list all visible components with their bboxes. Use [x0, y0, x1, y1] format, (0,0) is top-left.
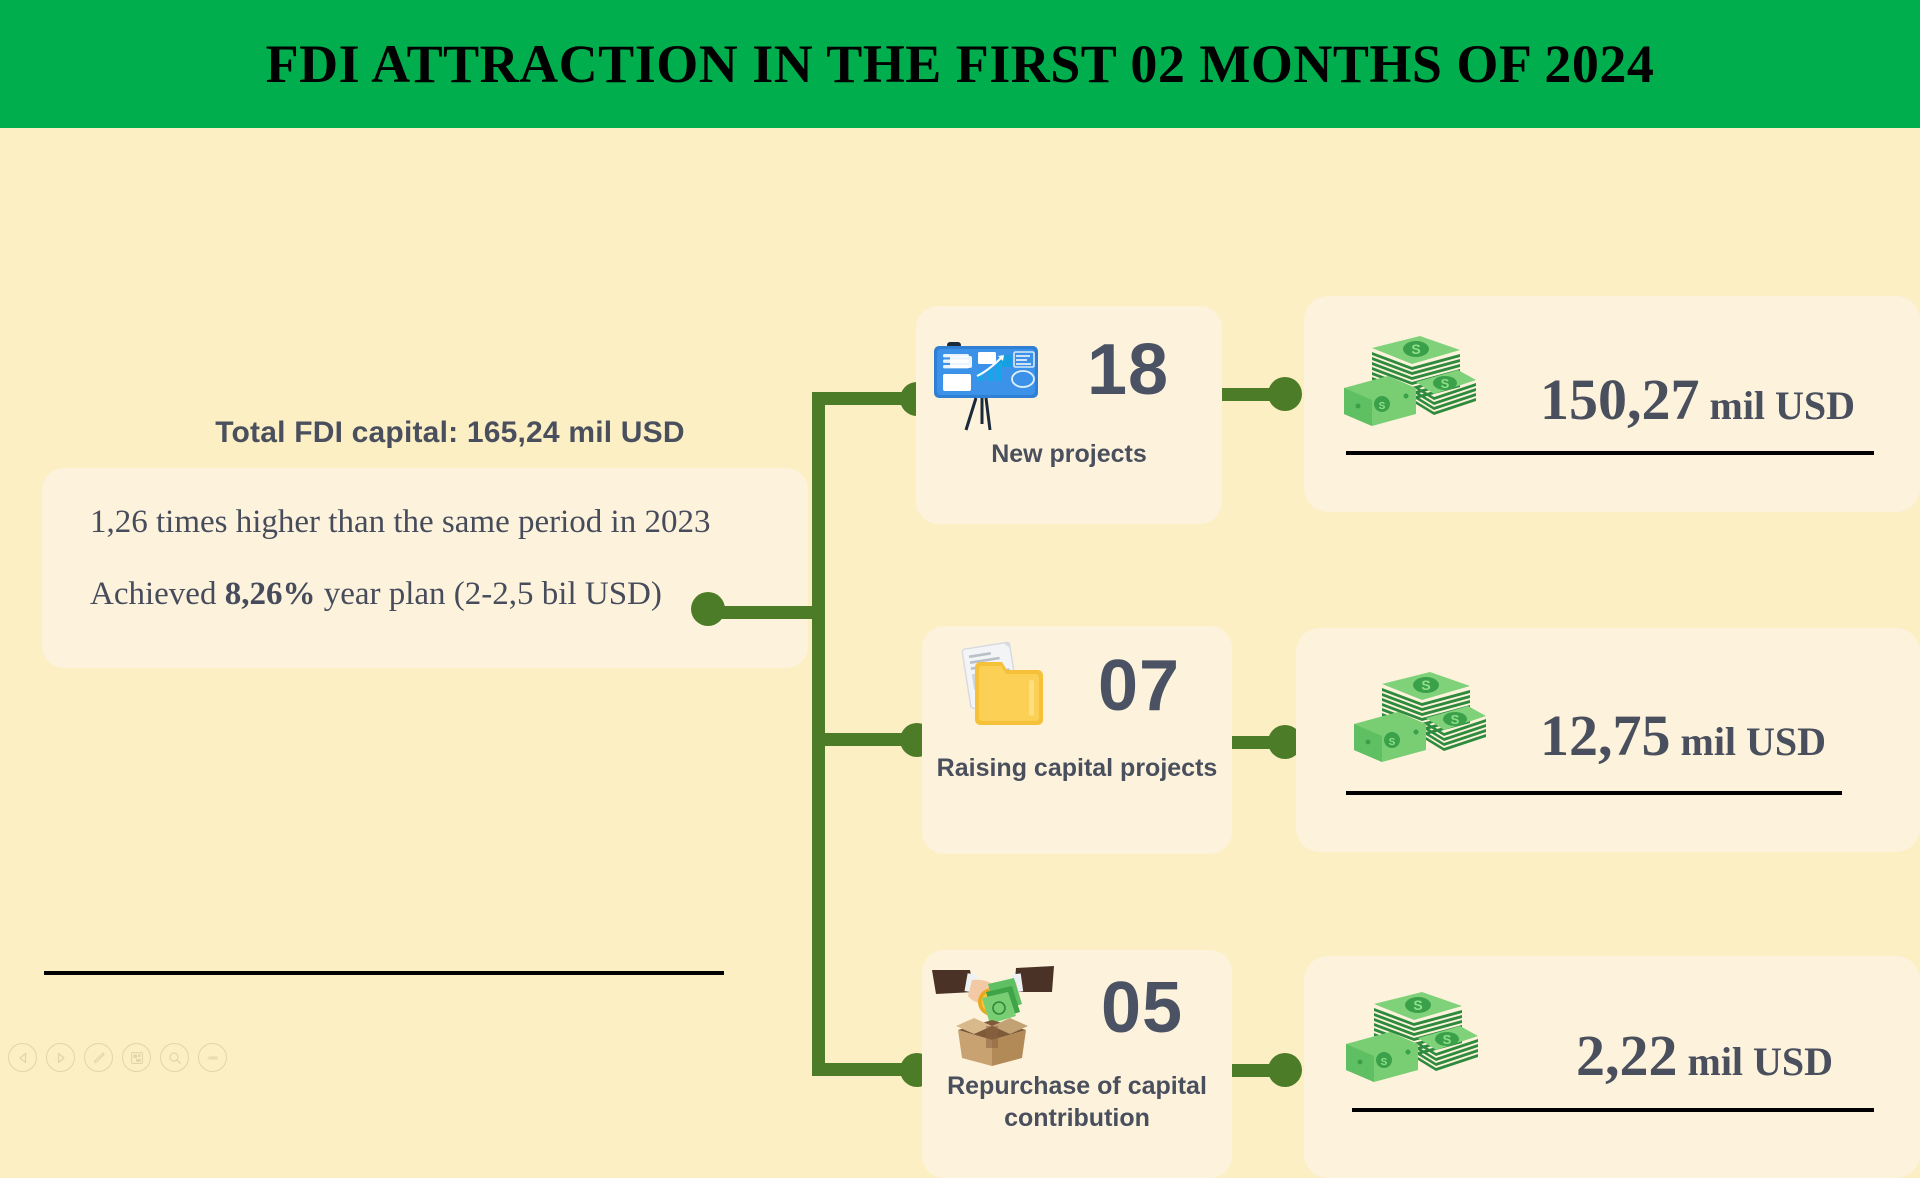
next-slide-button[interactable] — [46, 1043, 75, 1072]
amount-rule-3 — [1352, 1108, 1874, 1112]
amount-text-1: 150,27mil USD — [1540, 366, 1855, 433]
page-title: FDI ATTRACTION IN THE FIRST 02 MONTHS OF… — [266, 33, 1655, 95]
svg-text:S: S — [1421, 677, 1430, 693]
money-stack-icon: S S — [1342, 326, 1476, 441]
header-banner: FDI ATTRACTION IN THE FIRST 02 MONTHS OF… — [0, 0, 1920, 128]
summary-plan-percent: 8,26% — [225, 576, 316, 612]
summary-line-plan: Achieved 8,26% year plan (2-2,5 bil USD) — [90, 576, 662, 613]
amount-value-3: 2,22 — [1576, 1023, 1678, 1088]
folder-documents-icon — [950, 636, 1054, 745]
amount-text-2: 12,75mil USD — [1540, 702, 1826, 769]
slide-grid-button[interactable] — [122, 1043, 151, 1072]
amount-card-repurchase: S S — [1304, 956, 1920, 1178]
svg-text:S: S — [1381, 1057, 1388, 1068]
amount-rule-2 — [1346, 791, 1842, 795]
bottom-divider-rule — [44, 971, 724, 975]
ellipsis-icon — [206, 1051, 220, 1065]
metric-card-raising-capital: 07 Raising capital projects — [922, 626, 1232, 854]
pen-tool-button[interactable] — [84, 1043, 113, 1072]
metric-card-repurchase: $ — [922, 950, 1232, 1178]
presentation-board-icon — [930, 324, 1042, 441]
svg-text:S: S — [1413, 997, 1422, 1013]
magnifier-icon — [168, 1051, 182, 1065]
metric-label-2: Raising capital projects — [930, 752, 1224, 784]
money-stack-icon: S S — [1352, 662, 1486, 777]
metric-label-1: New projects — [924, 438, 1214, 470]
svg-text:S: S — [1379, 401, 1386, 412]
amount-unit-1: mil USD — [1710, 383, 1856, 428]
triangle-right-icon — [55, 1052, 67, 1064]
svg-text:S: S — [1389, 737, 1396, 748]
slide-canvas: Total FDI capital: 165,24 mil USD 1,26 t… — [0, 128, 1920, 1080]
amount-value-2: 12,75 — [1540, 703, 1671, 768]
amount-unit-2: mil USD — [1681, 719, 1827, 764]
svg-text:S: S — [1411, 341, 1420, 357]
amount-unit-3: mil USD — [1688, 1039, 1834, 1084]
zoom-button[interactable] — [160, 1043, 189, 1072]
amount-value-1: 150,27 — [1540, 367, 1700, 432]
more-options-button[interactable] — [198, 1043, 227, 1072]
previous-slide-button[interactable] — [8, 1043, 37, 1072]
total-capital-heading: Total FDI capital: 165,24 mil USD — [110, 416, 790, 450]
summary-plan-prefix: Achieved — [90, 576, 225, 612]
summary-plan-suffix: year plan (2-2,5 bil USD) — [315, 576, 661, 612]
connector-node-hub — [691, 592, 725, 626]
amount-text-3: 2,22mil USD — [1576, 1022, 1833, 1089]
hands-cash-box-icon: $ — [930, 954, 1056, 1077]
svg-text:S: S — [1441, 376, 1450, 391]
metric-count-1: 18 — [1087, 334, 1169, 406]
presentation-toolbar[interactable] — [8, 1043, 227, 1072]
svg-text:S: S — [1451, 712, 1460, 727]
pen-icon — [92, 1051, 106, 1065]
metric-count-2: 07 — [1098, 650, 1180, 722]
connector-node-amount-1 — [1268, 377, 1302, 411]
metric-card-new-projects: 18 New projects — [916, 306, 1222, 524]
amount-rule-1 — [1346, 451, 1874, 455]
connector-node-amount-3 — [1268, 1053, 1302, 1087]
summary-card: 1,26 times higher than the same period i… — [42, 468, 808, 668]
svg-text:S: S — [1443, 1032, 1452, 1047]
metric-count-3: 05 — [1101, 972, 1183, 1044]
grid-icon — [130, 1051, 144, 1065]
triangle-left-icon — [17, 1052, 29, 1064]
amount-card-new-projects: S S — [1304, 296, 1920, 512]
summary-line-comparison: 1,26 times higher than the same period i… — [90, 504, 710, 541]
amount-card-raising-capital: S S — [1296, 628, 1920, 852]
